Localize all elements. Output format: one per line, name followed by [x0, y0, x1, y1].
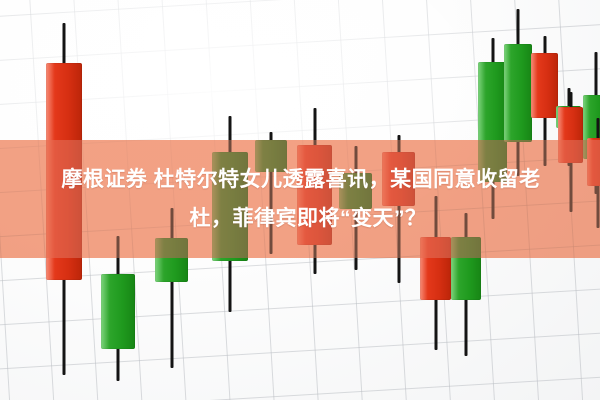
headline-text: 摩根证券 杜特尔特女儿透露喜讯，某国同意收留老 杜，菲律宾即将“变天”？	[0, 140, 600, 258]
candle-body-up	[101, 274, 135, 349]
candle-body-up	[504, 44, 532, 142]
headline-line-1: 摩根证券 杜特尔特女儿透露喜讯，某国同意收留老	[59, 160, 540, 199]
candle-body-down	[531, 53, 558, 118]
headline-line-2: 杜，菲律宾即将“变天”？	[174, 199, 427, 238]
chart-image: 摩根证券 杜特尔特女儿透露喜讯，某国同意收留老 杜，菲律宾即将“变天”？	[0, 0, 600, 400]
